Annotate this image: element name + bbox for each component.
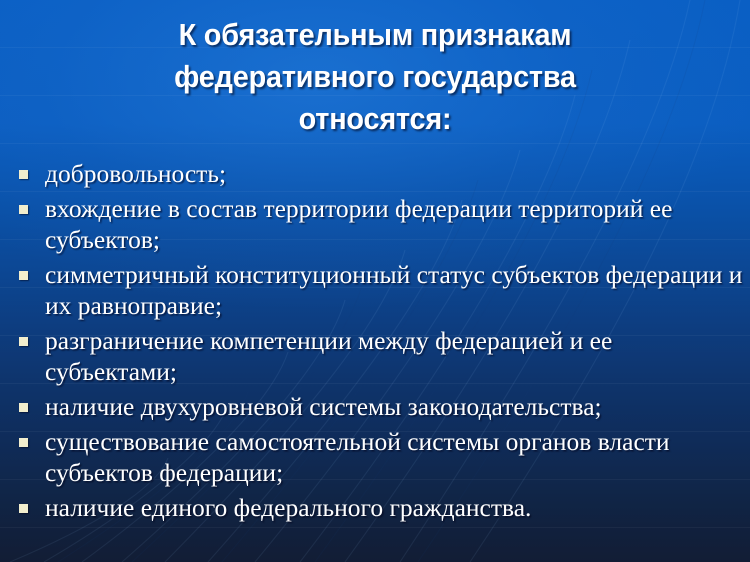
bullet-list: добровольность; вхождение в состав терри…	[0, 158, 750, 527]
list-item-label: разграничение компетенции между федераци…	[45, 325, 750, 387]
list-item-label: наличие двухуровневой системы законодате…	[45, 391, 750, 422]
list-item: наличие единого федерального гражданства…	[0, 492, 750, 523]
list-item: наличие двухуровневой системы законодате…	[0, 391, 750, 422]
list-item: вхождение в состав территории федерации …	[0, 193, 750, 255]
square-bullet-icon	[19, 205, 28, 214]
list-item: разграничение компетенции между федераци…	[0, 325, 750, 387]
list-item: добровольность;	[0, 158, 750, 189]
list-item-label: добровольность;	[45, 158, 750, 189]
square-bullet-icon	[19, 170, 28, 179]
list-item-label: симметричный конституционный статус субъ…	[45, 259, 750, 321]
presentation-slide: К обязательным признакам федеративного г…	[0, 0, 750, 562]
square-bullet-icon	[19, 337, 28, 346]
square-bullet-icon	[19, 504, 28, 513]
square-bullet-icon	[19, 271, 28, 280]
list-item-label: вхождение в состав территории федерации …	[45, 193, 750, 255]
list-item-label: наличие единого федерального гражданства…	[45, 492, 750, 523]
slide-title: К обязательным признакам федеративного г…	[63, 14, 686, 140]
list-item: симметричный конституционный статус субъ…	[0, 259, 750, 321]
square-bullet-icon	[19, 403, 28, 412]
square-bullet-icon	[19, 438, 28, 447]
list-item: существование самостоятельной системы ор…	[0, 426, 750, 488]
list-item-label: существование самостоятельной системы ор…	[45, 426, 750, 488]
